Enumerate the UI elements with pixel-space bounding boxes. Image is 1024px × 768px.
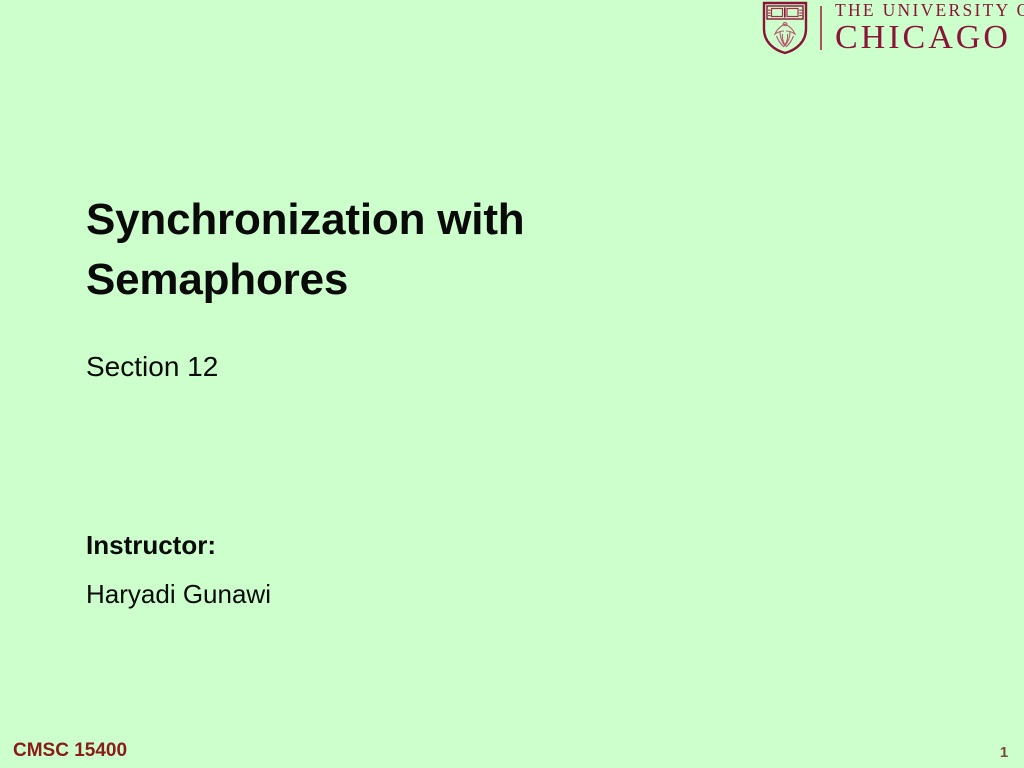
footer-page-number: 1 xyxy=(994,744,1014,761)
instructor-name: Haryadi Gunawi xyxy=(86,579,271,610)
university-logo: THE UNIVERSITY OF CHICAGO xyxy=(762,0,1024,56)
logo-line-chicago: CHICAGO xyxy=(835,22,1024,54)
university-shield-icon xyxy=(762,1,808,55)
slide-title: Synchronization with Semaphores xyxy=(86,190,706,310)
instructor-label: Instructor: xyxy=(86,530,216,561)
slide-subtitle: Section 12 xyxy=(86,351,218,383)
footer-course-code: CMSC 15400 xyxy=(13,740,127,762)
slide-canvas: THE UNIVERSITY OF CHICAGO Synchronizatio… xyxy=(0,0,1024,768)
logo-line-university: THE UNIVERSITY OF xyxy=(835,2,1024,20)
logo-wordmark: THE UNIVERSITY OF CHICAGO xyxy=(835,2,1024,55)
logo-divider xyxy=(820,6,822,50)
